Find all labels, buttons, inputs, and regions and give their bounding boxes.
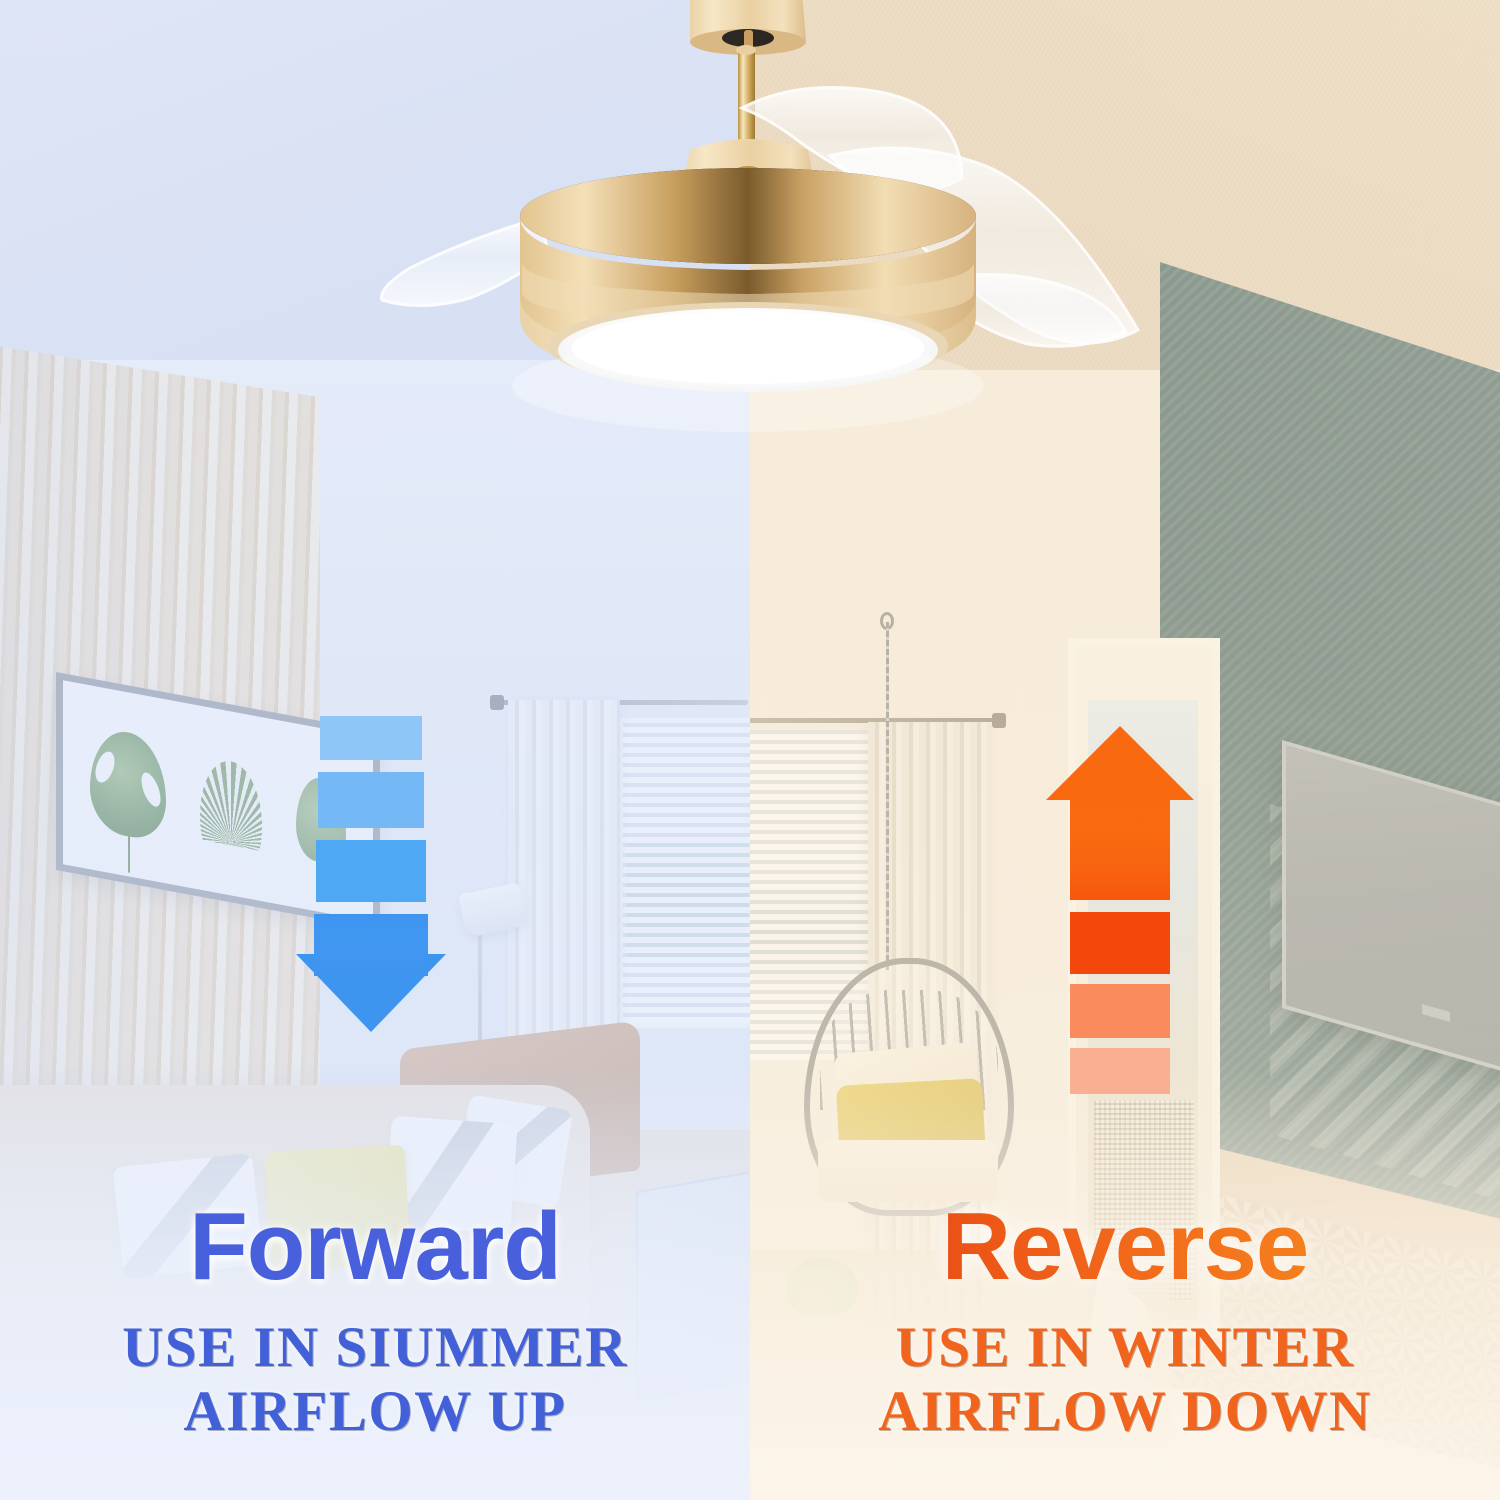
airflow-segment [316, 840, 426, 902]
forward-caption-block: Forward USE IN SIUMMER AIRFLOW UP [50, 1198, 700, 1444]
chair-chain [886, 622, 889, 970]
monstera-leaf-icon [90, 725, 166, 843]
window-left [618, 718, 750, 1028]
airflow-segment [318, 772, 424, 828]
palm-leaf-icon [200, 756, 262, 851]
reverse-subtitle-line-1: USE IN WINTER [800, 1316, 1450, 1380]
airflow-segment [1070, 1048, 1170, 1094]
airflow-segment [1070, 912, 1170, 974]
reverse-subtitle: USE IN WINTER AIRFLOW DOWN [800, 1316, 1450, 1444]
arrow-head [1046, 726, 1194, 800]
forward-subtitle-line-2: AIRFLOW UP [50, 1380, 700, 1444]
forward-subtitle-line-1: USE IN SIUMMER [50, 1316, 700, 1380]
reverse-caption-block: Reverse USE IN WINTER AIRFLOW DOWN [800, 1198, 1450, 1444]
downward-airflow-arrow [296, 716, 446, 1036]
reverse-headline: Reverse [800, 1198, 1450, 1296]
ceiling-left [0, 0, 750, 420]
reverse-subtitle-line-2: AIRFLOW DOWN [800, 1380, 1450, 1444]
airflow-segment [1070, 984, 1170, 1038]
forward-subtitle: USE IN SIUMMER AIRFLOW UP [50, 1316, 700, 1444]
forward-headline: Forward [50, 1198, 700, 1296]
infographic-canvas: Forward USE IN SIUMMER AIRFLOW UP Revers… [0, 0, 1500, 1500]
upward-airflow-arrow [1046, 722, 1194, 1024]
airflow-segment [320, 716, 422, 760]
window-blinds-left [623, 723, 750, 1023]
